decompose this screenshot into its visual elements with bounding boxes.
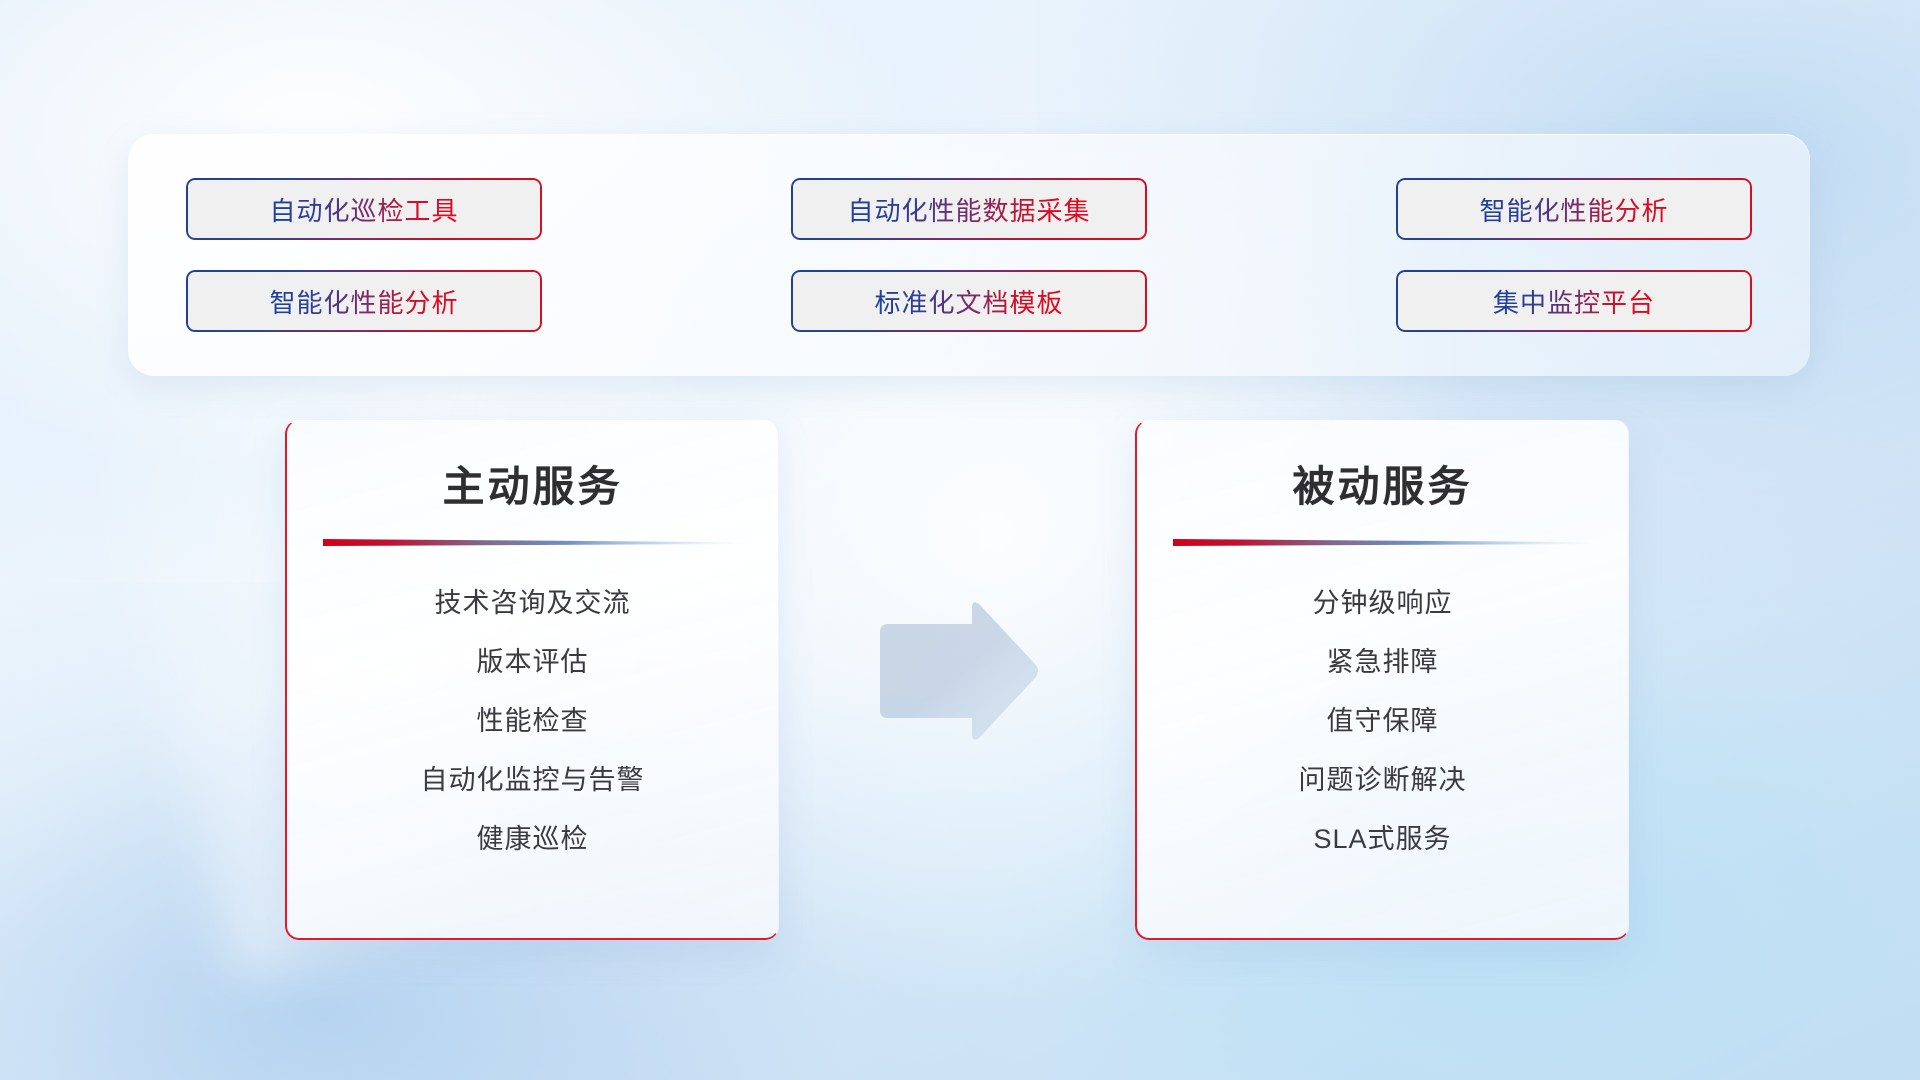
- card-item-list: 技术咨询及交流 版本评估 性能检查 自动化监控与告警 健康巡检: [287, 574, 778, 869]
- capabilities-row-2: 智能化性能分析 标准化文档模板 集中监控平台: [186, 270, 1752, 332]
- list-item: 技术咨询及交流: [435, 574, 631, 633]
- capability-pill-label: 自动化性能数据采集: [847, 191, 1090, 228]
- capability-pill-label: 集中监控平台: [1493, 283, 1655, 320]
- card-proactive-service: 主动服务 技术咨询及交流 版本评估 性能检查 自动化监控与告警 健康巡检: [285, 420, 779, 940]
- list-item: 紧急排障: [1327, 633, 1439, 692]
- list-item: 值守保障: [1327, 692, 1439, 751]
- list-item: 问题诊断解决: [1299, 751, 1467, 810]
- list-item: 健康巡检: [477, 810, 589, 869]
- capability-pill-label: 智能化性能分析: [1479, 191, 1668, 228]
- card-title-divider: [1173, 536, 1593, 548]
- card-reactive-service: 被动服务 分钟级响应 紧急排障 值守保障 问题诊断解决 SLA式服务: [1135, 420, 1629, 940]
- capabilities-row-1: 自动化巡检工具 自动化性能数据采集 智能化性能分析: [186, 178, 1752, 240]
- card-item-list: 分钟级响应 紧急排障 值守保障 问题诊断解决 SLA式服务: [1137, 574, 1628, 869]
- capability-pill-label: 自动化巡检工具: [269, 191, 458, 228]
- capabilities-panel: 自动化巡检工具 自动化性能数据采集 智能化性能分析 智能化性能分析 标准化文档模…: [128, 134, 1810, 376]
- capability-pill-intelligent-performance-analysis[interactable]: 智能化性能分析: [1396, 178, 1752, 240]
- card-title: 主动服务: [442, 453, 622, 514]
- list-item: 分钟级响应: [1313, 574, 1453, 633]
- capability-pill-label: 智能化性能分析: [269, 283, 458, 320]
- right-arrow-icon: [872, 598, 1042, 744]
- list-item: 版本评估: [477, 633, 589, 692]
- card-title: 被动服务: [1292, 453, 1472, 514]
- capability-pill-standardized-document-template[interactable]: 标准化文档模板: [791, 270, 1147, 332]
- capability-pill-label: 标准化文档模板: [874, 283, 1063, 320]
- capability-pill-automated-performance-data-collection[interactable]: 自动化性能数据采集: [791, 178, 1147, 240]
- list-item: SLA式服务: [1313, 810, 1451, 869]
- capability-pill-automated-inspection-tool[interactable]: 自动化巡检工具: [186, 178, 542, 240]
- capability-pill-centralized-monitoring-platform[interactable]: 集中监控平台: [1396, 270, 1752, 332]
- card-title-divider: [323, 536, 743, 548]
- capability-pill-intelligent-performance-analysis-2[interactable]: 智能化性能分析: [186, 270, 542, 332]
- list-item: 性能检查: [477, 692, 589, 751]
- list-item: 自动化监控与告警: [421, 751, 645, 810]
